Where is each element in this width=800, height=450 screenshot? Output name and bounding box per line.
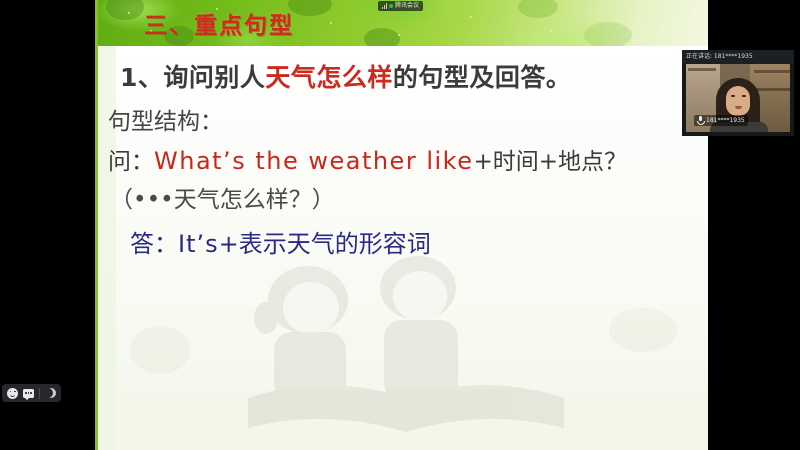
participant-eye-left <box>731 95 735 97</box>
point-1-prefix: 1、询问别人 <box>120 63 265 92</box>
participant-nametag: 181****1935 <box>694 115 748 126</box>
reaction-button[interactable] <box>7 388 18 399</box>
question-translation: （•••天气怎么样？） <box>110 180 335 214</box>
chat-bubble-icon <box>23 389 34 398</box>
video-participant-panel[interactable]: 正在讲话: 181****1935 181****1935 <box>682 50 794 136</box>
participant-eye-right <box>742 95 746 97</box>
video-shelf-1 <box>754 70 790 73</box>
signal-bars-icon <box>382 3 387 9</box>
answer-suffix: +表示天气的形容词 <box>219 230 431 258</box>
question-prefix: 问： <box>108 149 154 175</box>
participant-video-tile[interactable]: 181****1935 <box>686 64 790 132</box>
answer-pattern-line: 答：It’s+表示天气的形容词 <box>130 224 431 259</box>
video-shelf-3 <box>688 68 716 71</box>
point-1-highlight: 天气怎么样 <box>265 63 393 92</box>
question-english: What’s the weather like <box>154 147 473 175</box>
participant-face <box>726 86 750 116</box>
question-suffix: +时间+地点？ <box>473 149 627 175</box>
structure-label: 句型结构： <box>108 102 223 136</box>
shared-slide: 三、重点句型 1、询问别人天气怎么样的句型及回答。 句型结构： 问：What’s… <box>95 0 708 450</box>
question-pattern-line: 问：What’s the weather like+时间+地点？ <box>108 142 627 176</box>
floating-toolbar <box>2 384 61 402</box>
microphone-icon <box>696 116 704 125</box>
meeting-app-label: 腾讯会议 <box>395 3 419 9</box>
participant-name: 181****1935 <box>706 118 745 124</box>
page-title: 三、重点句型 <box>144 6 294 40</box>
point-1-line: 1、询问别人天气怎么样的句型及回答。 <box>120 58 571 94</box>
emoji-smiley-icon <box>7 388 18 399</box>
speaking-caption: 正在讲话: 181****1935 <box>682 50 794 64</box>
more-button[interactable] <box>45 388 56 399</box>
meeting-app-badge: 腾讯会议 <box>378 1 423 11</box>
answer-prefix: 答： <box>130 230 178 258</box>
chat-button[interactable] <box>23 388 34 399</box>
point-1-suffix: 的句型及回答。 <box>393 63 572 92</box>
toolbar-divider <box>39 388 40 399</box>
moon-icon <box>46 388 56 398</box>
video-shelf-2 <box>754 88 790 91</box>
meeting-screen: 三、重点句型 1、询问别人天气怎么样的句型及回答。 句型结构： 问：What’s… <box>0 0 800 450</box>
answer-english: It’s <box>178 230 219 258</box>
status-dot-icon <box>389 4 393 8</box>
